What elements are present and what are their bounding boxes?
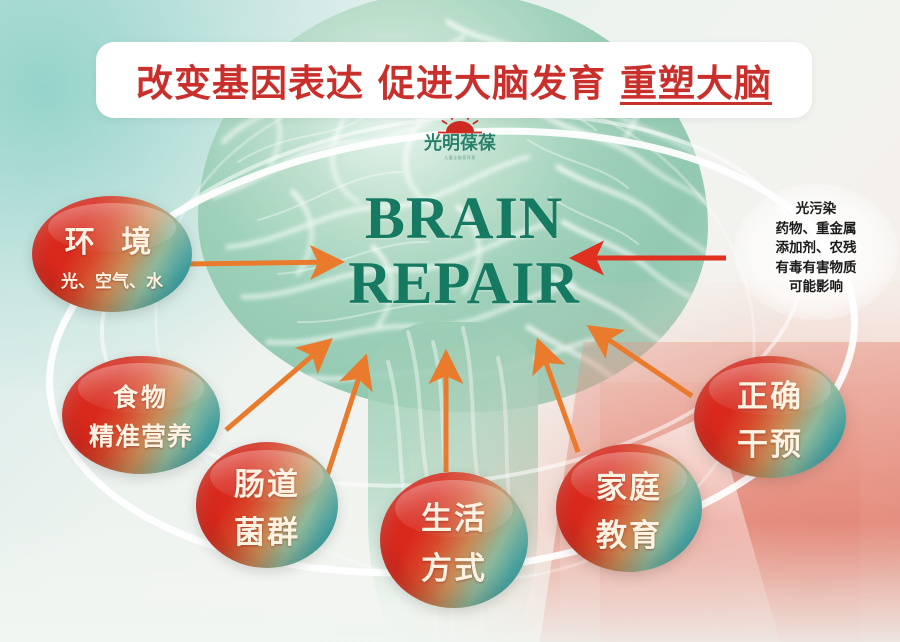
bubble-title: 环 境: [65, 217, 159, 261]
factor-bubble-lifestyle[interactable]: 生活 方式: [380, 472, 528, 608]
bubble-title: 正确: [737, 371, 803, 416]
brand-name: 光明葆葆: [424, 135, 496, 153]
title-segment-3: 重塑大脑: [620, 62, 772, 105]
hazard-line-2: 药物、重金属: [742, 220, 890, 240]
title-segment-2: 促进大脑发育: [378, 62, 606, 105]
brand-logo: 光明葆葆 儿童全脑营养素: [412, 112, 508, 168]
factor-bubble-environment[interactable]: 环 境 光、空气、水: [32, 196, 192, 312]
hazard-note: 光污染 药物、重金属 添加剂、农残 有毒有害物质 可能影响: [742, 200, 890, 298]
center-headline: BRAIN REPAIR: [330, 186, 598, 316]
bubble-title: 肠道: [234, 459, 300, 504]
hazard-line-5: 可能影响: [742, 278, 890, 298]
bubble-title: 食物: [113, 378, 169, 414]
headline-line-2: REPAIR: [330, 251, 598, 316]
factor-bubble-correct-intervention[interactable]: 正确 干预: [694, 356, 846, 478]
hazard-line-3: 添加剂、农残: [742, 239, 890, 259]
bubble-title: 生活: [421, 493, 487, 538]
bubble-subtitle: 教育: [596, 510, 662, 555]
hazard-line-4: 有毒有害物质: [742, 259, 890, 279]
infographic-poster: 改变基因表达促进大脑发育重塑大脑 光明葆葆 儿童全脑营养素 BRAIN REPA…: [0, 0, 900, 642]
brand-tagline: 儿童全脑营养素: [444, 155, 476, 161]
page-title: 改变基因表达促进大脑发育重塑大脑: [136, 53, 772, 107]
bubble-subtitle: 菌群: [234, 507, 300, 552]
factor-bubble-food[interactable]: 食物 精准营养: [62, 356, 220, 474]
bubble-title: 家庭: [596, 462, 662, 507]
bubble-subtitle: 方式: [421, 543, 487, 588]
headline-line-1: BRAIN: [330, 186, 598, 251]
factor-bubble-gut-microbiome[interactable]: 肠道 菌群: [196, 442, 338, 568]
bubble-subtitle: 干预: [737, 419, 803, 464]
hazard-line-1: 光污染: [742, 200, 890, 220]
factor-bubble-family-education[interactable]: 家庭 教育: [556, 444, 702, 572]
bubble-subtitle: 精准营养: [89, 417, 193, 453]
title-segment-1: 改变基因表达: [136, 62, 364, 105]
title-card: 改变基因表达促进大脑发育重塑大脑: [96, 42, 812, 118]
bubble-subtitle: 光、空气、水: [61, 267, 163, 292]
